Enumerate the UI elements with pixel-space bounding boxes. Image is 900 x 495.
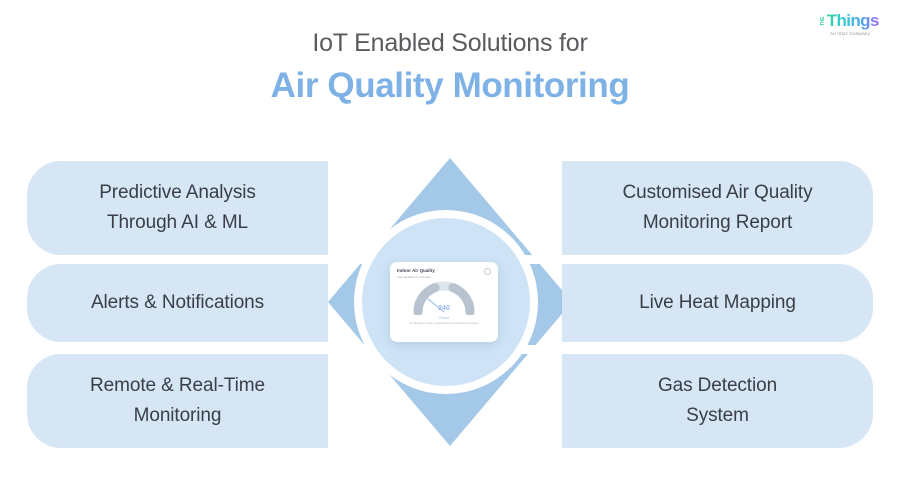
feature-card-line-1: Remote & Real-Time <box>90 375 265 396</box>
feature-card-label: Customised Air Quality Monitoring Report <box>623 178 813 238</box>
device-card-header: Indoor Air Quality Last updated 2 mins a… <box>397 268 491 280</box>
feature-card-gas-detection-system[interactable]: Gas Detection System <box>562 354 873 448</box>
feature-card-line-2: Through AI & ML <box>107 212 248 233</box>
air-quality-gauge: 240 <box>413 281 475 315</box>
feature-card-line-1: Alerts & Notifications <box>91 292 264 313</box>
device-card-subtitle: Last updated 2 mins ago <box>397 275 435 280</box>
feature-card-predictive-analysis[interactable]: Predictive Analysis Through AI & ML <box>27 161 328 255</box>
feature-card-line-2: System <box>686 405 749 426</box>
feature-card-label: Remote & Real-Time Monitoring <box>90 371 265 431</box>
feature-card-label: Gas Detection System <box>658 371 777 431</box>
gear-icon[interactable] <box>484 268 491 275</box>
device-preview-card: Indoor Air Quality Last updated 2 mins a… <box>390 262 498 342</box>
gauge-value: 240 <box>413 305 475 313</box>
feature-card-line-2: Monitoring Report <box>643 212 792 233</box>
device-card-title: Indoor Air Quality <box>397 268 435 274</box>
feature-card-label: Live Heat Mapping <box>639 288 796 318</box>
feature-card-customised-report[interactable]: Customised Air Quality Monitoring Report <box>562 161 873 255</box>
feature-card-label: Predictive Analysis Through AI & ML <box>99 178 256 238</box>
feature-card-line-1: Predictive Analysis <box>99 182 256 203</box>
feature-card-remote-real-time-monitoring[interactable]: Remote & Real-Time Monitoring <box>27 354 328 448</box>
feature-card-line-1: Gas Detection <box>658 375 777 396</box>
page-title-block: IoT Enabled Solutions for Air Quality Mo… <box>0 26 900 109</box>
feature-card-line-1: Customised Air Quality <box>623 182 813 203</box>
feature-card-live-heat-mapping[interactable]: Live Heat Mapping <box>562 264 873 342</box>
feature-card-alerts-notifications[interactable]: Alerts & Notifications <box>27 264 328 342</box>
device-card-header-text: Indoor Air Quality Last updated 2 mins a… <box>397 268 435 280</box>
page-title: Air Quality Monitoring <box>0 63 900 109</box>
page-subtitle: IoT Enabled Solutions for <box>0 26 900 60</box>
feature-card-label: Alerts & Notifications <box>91 288 264 318</box>
gauge-status: Good <box>397 315 491 321</box>
gauge-note: Air Quality is Good, no precautions need… <box>397 322 491 326</box>
feature-card-line-1: Live Heat Mapping <box>639 292 796 313</box>
feature-card-line-2: Monitoring <box>134 405 222 426</box>
